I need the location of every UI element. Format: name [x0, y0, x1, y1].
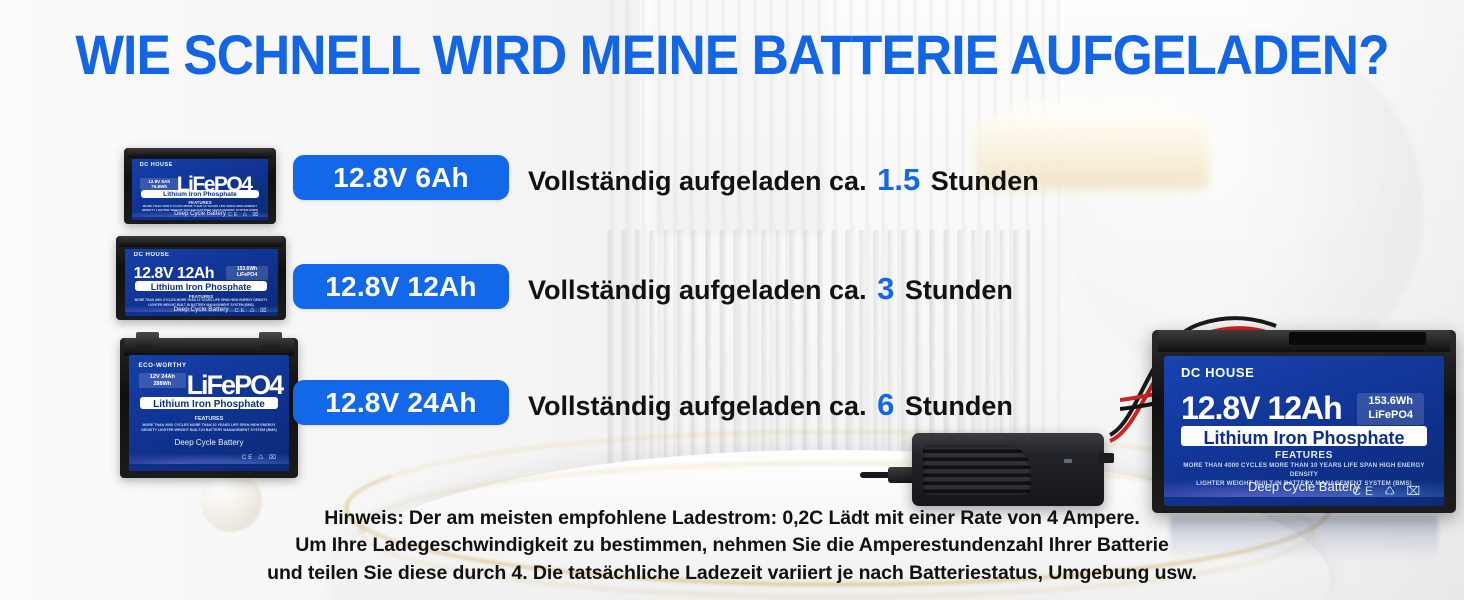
charger-vent-slots — [923, 445, 1031, 495]
battery-features-lines: MORE THAN 4000 CYCLES MORE THAN 10 YEARS… — [135, 423, 282, 433]
battery-wh-box: 12V 24Ah 288Wh — [139, 373, 187, 388]
battery-features-heading: FEATURES — [1164, 450, 1444, 461]
battery-cert-icons: CE ♺ ⌧ — [228, 212, 260, 218]
battery-wh-box: 153.6Wh LiFePO4 — [1357, 393, 1424, 425]
battery-terminal-bar — [1289, 332, 1426, 345]
battery-type-line: Lithium Iron Phosphate — [1181, 426, 1427, 446]
capacity-badge-24ah[interactable]: 12.8V 24Ah — [293, 380, 509, 425]
battery-type-line: Lithium Iron Phosphate — [141, 190, 259, 198]
battery-type-line: Lithium Iron Phosphate — [140, 397, 278, 410]
battery-label: DC HOUSE 12.8V 12Ah 153.6Wh LiFePO4 Lith… — [125, 249, 278, 316]
battery-terminal-right — [259, 332, 282, 347]
battery-top-rail — [119, 236, 282, 247]
charge-time-hours: 6 — [874, 387, 897, 422]
battery-image-large-12ah: DC HOUSE 12.8V 12Ah 153.6Wh LiFePO4 Lith… — [1152, 330, 1456, 513]
battery-label: DC HOUSE 12.8V 12Ah 153.6Wh LiFePO4 Lith… — [1164, 356, 1444, 506]
battery-wh: 76.8Wh — [151, 184, 167, 189]
charge-time-prefix: Vollständig aufgeladen ca. — [528, 275, 867, 305]
charge-time-prefix: Vollständig aufgeladen ca. — [528, 166, 867, 196]
battery-brand: DC HOUSE — [1181, 365, 1254, 380]
capacity-badge-12ah[interactable]: 12.8V 12Ah — [293, 264, 509, 309]
battery-image-12ah: DC HOUSE 12.8V 12Ah 153.6Wh LiFePO4 Lith… — [116, 236, 286, 320]
battery-brand: ECO-WORTHY — [139, 362, 187, 369]
battery-top-rail — [127, 148, 273, 158]
charge-time-row-12ah: Vollständig aufgeladen ca. 3 Stunden — [528, 271, 1013, 307]
battery-label: ECO-WORTHY 12V 24Ah 288Wh LiFePO4 Lithiu… — [129, 355, 289, 471]
battery-wh-box: 12.8V 6Ah 76.8Wh — [140, 178, 179, 191]
charge-time-row-24ah: Vollständig aufgeladen ca. 6 Stunden — [528, 387, 1013, 423]
battery-terminal-left — [136, 332, 159, 347]
battery-label: DC HOUSE 12.8V 6Ah 76.8Wh LiFePO4 Lithiu… — [132, 159, 269, 220]
charge-time-hours: 3 — [874, 271, 897, 306]
charger-led-indicator — [1064, 459, 1072, 463]
battery-type-line: Lithium Iron Phosphate — [135, 281, 267, 291]
battery-brand: DC HOUSE — [134, 252, 170, 258]
charger-adapter — [912, 433, 1104, 506]
charger-output-lead — [1098, 453, 1114, 463]
battery-brand: DC HOUSE — [140, 162, 173, 168]
battery-wh: 153.6Wh — [1368, 395, 1413, 407]
battery-image-6ah: DC HOUSE 12.8V 6Ah 76.8Wh LiFePO4 Lithiu… — [124, 148, 276, 224]
footer-line-2: Um Ihre Ladegeschwindigkeit zu bestimmen… — [0, 532, 1464, 559]
battery-spec: 12V 24Ah — [150, 374, 175, 380]
charge-time-suffix: Stunden — [905, 391, 1013, 421]
charge-time-prefix: Vollständig aufgeladen ca. — [528, 391, 867, 421]
battery-wh: 288Wh — [153, 381, 171, 387]
battery-spec: 12.8V 6Ah — [148, 179, 170, 184]
charge-time-hours: 1.5 — [874, 162, 923, 197]
battery-chemistry: LiFePO4 — [237, 272, 257, 278]
page-title: WIE SCHNELL WIRD MEINE BATTERIE AUFGELAD… — [59, 22, 1406, 87]
battery-features-line-1: MORE THAN 4000 CYCLES MORE THAN 10 YEARS… — [1178, 461, 1430, 480]
battery-cert-icons: CE ♺ ⌧ — [1352, 484, 1424, 498]
footer-note: Hinweis: Der am meisten empfohlene Lades… — [0, 505, 1464, 587]
battery-features-heading: FEATURES — [139, 416, 280, 422]
infographic-canvas: WIE SCHNELL WIRD MEINE BATTERIE AUFGELAD… — [0, 0, 1464, 600]
footer-line-3: und teilen Sie diese durch 4. Die tatsäc… — [0, 560, 1464, 587]
charge-time-suffix: Stunden — [905, 275, 1013, 305]
footer-line-1: Hinweis: Der am meisten empfohlene Lades… — [0, 505, 1464, 532]
capacity-badge-6ah[interactable]: 12.8V 6Ah — [293, 155, 509, 200]
battery-wh-box: 153.6Wh LiFePO4 — [226, 266, 269, 280]
battery-cert-icons: CE ♺ ⌧ — [242, 454, 278, 461]
charge-time-row-6ah: Vollständig aufgeladen ca. 1.5 Stunden — [528, 162, 1039, 198]
battery-spec: 12.8V 12Ah — [1181, 390, 1342, 427]
battery-chemistry: LiFePO4 — [1368, 409, 1413, 421]
battery-tagline: Deep Cycle Battery — [129, 438, 289, 447]
battery-cert-icons: CE ♺ ⌧ — [235, 308, 269, 314]
charge-time-suffix: Stunden — [931, 166, 1039, 196]
battery-image-24ah: ECO-WORTHY 12V 24Ah 288Wh LiFePO4 Lithiu… — [120, 338, 298, 478]
